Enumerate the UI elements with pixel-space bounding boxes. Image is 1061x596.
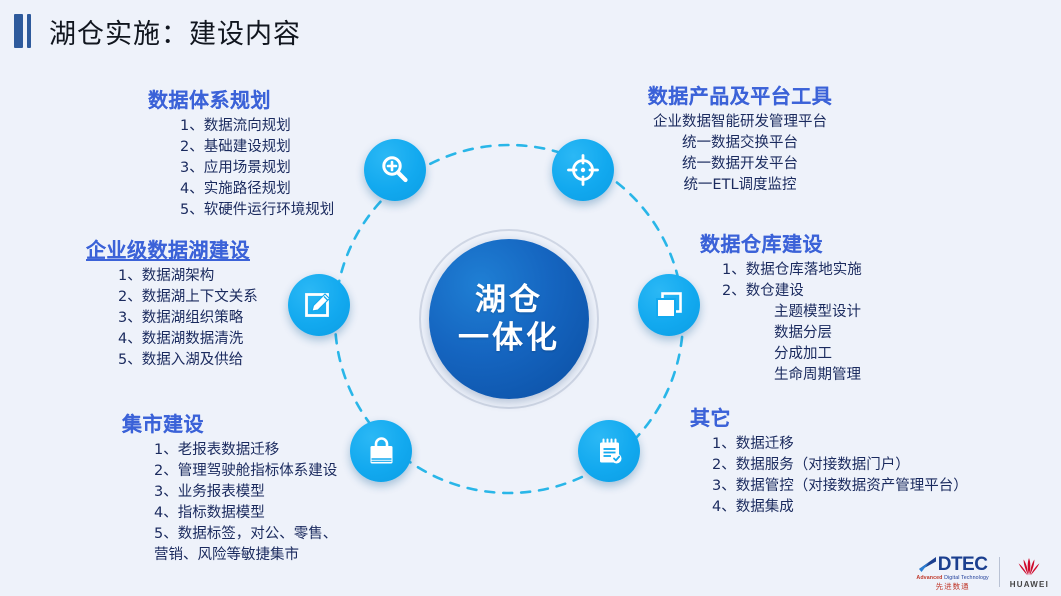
list-item: 3、应用场景规划 bbox=[158, 158, 418, 179]
block-heading: 企业级数据湖建设 bbox=[86, 234, 356, 263]
list-item: 1、数据流向规划 bbox=[158, 116, 418, 137]
hub-label-line1: 湖仓 bbox=[475, 281, 543, 319]
list-item: 3、业务报表模型 bbox=[132, 482, 402, 503]
list-item: 2、数仓建设 bbox=[700, 281, 980, 302]
dtec-logo-top: DTEC bbox=[918, 555, 988, 574]
list-item: 统一数据开发平台 bbox=[600, 154, 880, 175]
dtec-wordmark: DTEC bbox=[938, 555, 988, 574]
dtec-tagline: Advanced Digital Technology bbox=[916, 576, 988, 581]
block-item-list: 1、数据仓库落地实施 2、数仓建设 主题模型设计 数据分层 分成加工 生命周期管… bbox=[700, 260, 980, 386]
block-item-list: 1、数据流向规划 2、基础建设规划 3、应用场景规划 4、实施路径规划 5、软硬… bbox=[148, 116, 418, 221]
list-subitem: 生命周期管理 bbox=[700, 365, 980, 386]
page-title: 湖仓实施：建设内容 bbox=[49, 12, 301, 51]
list-item: 5、数据入湖及供给 bbox=[96, 350, 356, 371]
list-item: 4、指标数据模型 bbox=[132, 503, 402, 524]
hub-label-line2: 一体化 bbox=[458, 319, 560, 357]
block-data-system-planning: 数据体系规划 1、数据流向规划 2、基础建设规划 3、应用场景规划 4、实施路径… bbox=[148, 84, 418, 221]
huawei-logo: HUAWEI bbox=[1010, 556, 1049, 589]
dtec-tagline-bold: Advanced bbox=[916, 575, 942, 581]
list-item: 1、数据湖架构 bbox=[96, 266, 356, 287]
block-heading: 数据体系规划 bbox=[148, 84, 418, 113]
title-accent-bars bbox=[14, 14, 31, 48]
checklist-note-icon-bubble[interactable] bbox=[578, 420, 640, 482]
list-subitem: 数据分层 bbox=[700, 323, 980, 344]
list-item: 统一数据交换平台 bbox=[600, 133, 880, 154]
list-subitem: 主题模型设计 bbox=[700, 302, 980, 323]
accent-bar-thick bbox=[14, 14, 23, 48]
huawei-flower-icon bbox=[1014, 556, 1044, 578]
block-heading: 数据仓库建设 bbox=[700, 228, 980, 257]
list-item: 5、数据标签，对公、零售、 bbox=[132, 524, 402, 545]
list-item: 3、数据湖组织策略 bbox=[96, 308, 356, 329]
target-icon bbox=[566, 153, 600, 187]
copy-layers-icon-bubble[interactable] bbox=[638, 274, 700, 336]
hub-core-circle: 湖仓 一体化 bbox=[429, 239, 589, 399]
block-item-list: 1、数据湖架构 2、数据湖上下文关系 3、数据湖组织策略 4、数据湖数据清洗 5… bbox=[86, 266, 356, 371]
dtec-logo: DTEC Advanced Digital Technology 先进数通 bbox=[916, 555, 988, 590]
list-item: 4、数据湖数据清洗 bbox=[96, 329, 356, 350]
list-item: 3、数据管控（对接数据资产管理平台） bbox=[690, 476, 990, 497]
slide-canvas: 湖仓实施：建设内容 湖仓 一体化 bbox=[0, 0, 1061, 596]
logo-divider bbox=[999, 557, 1000, 587]
list-item: 1、数据迁移 bbox=[690, 434, 990, 455]
block-data-warehouse: 数据仓库建设 1、数据仓库落地实施 2、数仓建设 主题模型设计 数据分层 分成加… bbox=[700, 228, 980, 386]
block-other: 其它 1、数据迁移 2、数据服务（对接数据门户） 3、数据管控（对接数据资产管理… bbox=[690, 402, 990, 518]
block-item-list: 企业数据智能研发管理平台 统一数据交换平台 统一数据开发平台 统一ETL调度监控 bbox=[600, 112, 880, 196]
block-data-mart: 集市建设 1、老报表数据迁移 2、管理驾驶舱指标体系建设 3、业务报表模型 4、… bbox=[122, 408, 402, 566]
copy-layers-icon bbox=[653, 289, 685, 321]
block-data-products-platform-tools: 数据产品及平台工具 企业数据智能研发管理平台 统一数据交换平台 统一数据开发平台… bbox=[600, 80, 880, 196]
block-item-list: 1、老报表数据迁移 2、管理驾驶舱指标体系建设 3、业务报表模型 4、指标数据模… bbox=[122, 440, 402, 566]
block-heading: 数据产品及平台工具 bbox=[600, 80, 880, 109]
dtec-tagline-rest: Digital Technology bbox=[943, 575, 989, 581]
list-item: 2、数据服务（对接数据门户） bbox=[690, 455, 990, 476]
dtec-mark-icon bbox=[918, 556, 938, 573]
list-item: 1、老报表数据迁移 bbox=[132, 440, 402, 461]
checklist-note-icon bbox=[594, 436, 625, 467]
center-hub: 湖仓 一体化 bbox=[419, 229, 599, 409]
list-item: 4、实施路径规划 bbox=[158, 179, 418, 200]
block-item-list: 1、数据迁移 2、数据服务（对接数据门户） 3、数据管控（对接数据资产管理平台）… bbox=[690, 434, 990, 518]
page-title-row: 湖仓实施：建设内容 bbox=[0, 8, 301, 54]
list-item: 5、软硬件运行环境规划 bbox=[158, 200, 418, 221]
list-item: 2、管理驾驶舱指标体系建设 bbox=[132, 461, 402, 482]
huawei-wordmark: HUAWEI bbox=[1010, 580, 1049, 589]
dtec-chinese-name: 先进数通 bbox=[936, 583, 970, 591]
list-item: 统一ETL调度监控 bbox=[600, 175, 880, 196]
list-item: 4、数据集成 bbox=[690, 497, 990, 518]
list-item: 1、数据仓库落地实施 bbox=[700, 260, 980, 281]
list-item: 2、数据湖上下文关系 bbox=[96, 287, 356, 308]
footer-logos: DTEC Advanced Digital Technology 先进数通 HU… bbox=[916, 555, 1049, 590]
list-item: 2、基础建设规划 bbox=[158, 137, 418, 158]
block-enterprise-data-lake: 企业级数据湖建设 1、数据湖架构 2、数据湖上下文关系 3、数据湖组织策略 4、… bbox=[86, 234, 356, 371]
block-heading: 集市建设 bbox=[122, 408, 402, 437]
list-item-continuation: 营销、风险等敏捷集市 bbox=[132, 545, 402, 566]
list-item: 企业数据智能研发管理平台 bbox=[600, 112, 880, 133]
accent-bar-thin bbox=[27, 14, 31, 48]
block-heading: 其它 bbox=[690, 402, 990, 431]
list-subitem: 分成加工 bbox=[700, 344, 980, 365]
